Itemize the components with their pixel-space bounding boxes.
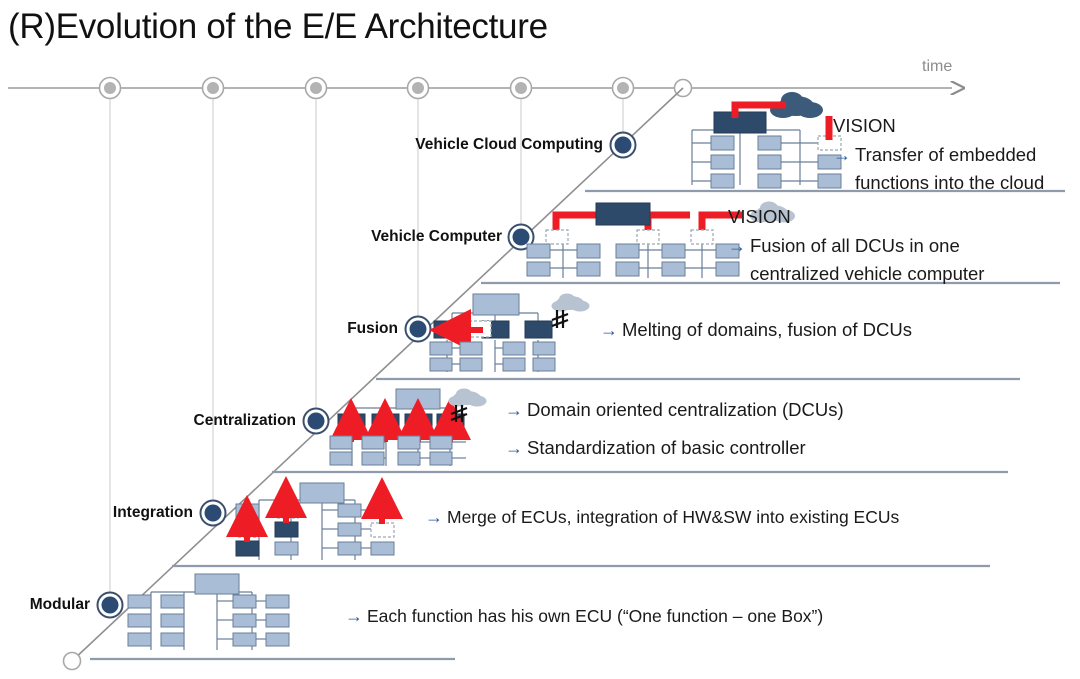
desc-line: →Fusion of all DCUs in one [728,232,984,260]
desc-line: →Merge of ECUs, integration of HW&SW int… [425,504,899,531]
desc-line: →Standardization of basic controller [505,434,844,462]
stage-label-integration: Integration [60,504,193,522]
stage-nodes [98,133,636,618]
stage-node-centralization [304,409,329,434]
arrow-bullet-icon: → [728,233,750,260]
desc-line: functions into the cloud [833,169,1044,196]
desc-text: Each function has his own ECU (“One func… [367,606,823,626]
desc-centralization: →Domain oriented centralization (DCUs) →… [505,396,844,462]
arch-fusion [430,294,590,373]
desc-text: centralized vehicle computer [750,263,984,284]
slide-canvas: (R)Evolution of the E/E Architecture [0,0,1080,679]
stage-node-modular [98,593,123,618]
desc-fusion: →Melting of domains, fusion of DCUs [600,316,912,344]
arch-centralization [330,389,487,467]
desc-modular: →Each function has his own ECU (“One fun… [345,603,823,630]
desc-text: Standardization of basic controller [527,437,806,458]
arrow-bullet-icon: → [345,603,367,630]
cloud-icon-light [552,294,590,312]
desc-text: functions into the cloud [855,172,1044,193]
desc-text: Melting of domains, fusion of DCUs [622,319,912,340]
vision-label-vehicle-cloud-computing: VISION [833,115,896,137]
stage-node-integration [201,501,226,526]
desc-integration: →Merge of ECUs, integration of HW&SW int… [425,504,899,531]
desc-line: →Each function has his own ECU (“One fun… [345,603,823,630]
stage-node-fusion [406,317,431,342]
desc-text: Transfer of embedded [855,144,1036,165]
arrow-bullet-icon: → [600,317,622,344]
desc-vehicle-computer: →Fusion of all DCUs in one centralized v… [728,232,984,287]
diagram-graphics [0,0,1080,679]
arrow-bullet-icon: → [833,142,855,169]
desc-line: →Transfer of embedded [833,141,1044,169]
desc-line: →Melting of domains, fusion of DCUs [600,316,912,344]
desc-text: Fusion of all DCUs in one [750,235,960,256]
wireless-icon [552,310,568,328]
desc-vehicle-cloud-computing: →Transfer of embedded functions into the… [833,141,1044,196]
stage-label-vehicle-computer: Vehicle Computer [322,228,502,246]
stage-label-modular: Modular [0,596,90,614]
desc-text: Merge of ECUs, integration of HW&SW into… [447,507,899,527]
arch-vehicle-cloud-computing [692,92,841,188]
time-axis-label: time [922,58,952,76]
stage-label-fusion: Fusion [290,320,398,338]
desc-line: centralized vehicle computer [728,260,984,287]
arrow-bullet-icon: → [425,504,447,531]
arrow-bullet-icon: → [505,397,527,424]
arrow-bullet-icon: → [505,435,527,462]
stage-label-vehicle-cloud-computing: Vehicle Cloud Computing [348,136,603,154]
stage-label-centralization: Centralization [140,412,296,430]
stage-node-vehicle-cloud-computing [611,133,636,158]
desc-line: →Domain oriented centralization (DCUs) [505,396,844,424]
desc-text: Domain oriented centralization (DCUs) [527,399,844,420]
vision-label-vehicle-computer: VISION [728,206,791,228]
cloud-icon-light [449,389,487,407]
arch-integration [236,483,394,560]
